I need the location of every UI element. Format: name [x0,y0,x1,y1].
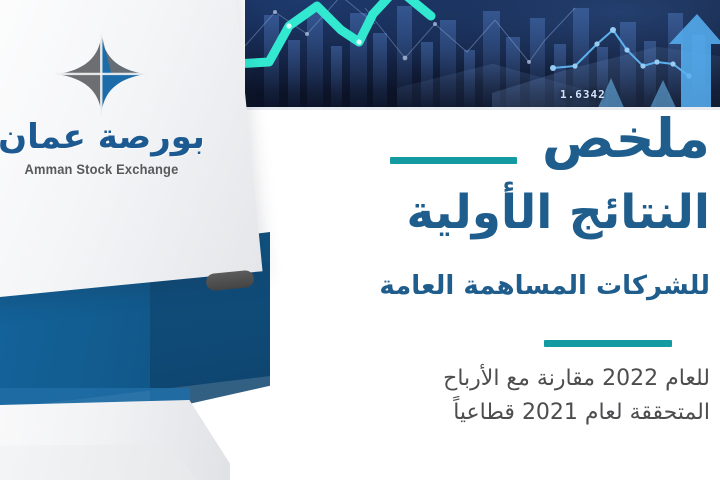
teal-divider-bottom [544,340,672,347]
ribbon-white-secondary [0,444,198,480]
ase-logo-english-name: Amman Stock Exchange [0,162,234,176]
banner-value-label: 1.6342 [560,88,606,101]
stock-chart-banner: 1.6342 [245,0,720,110]
ase-logo: بورصة عمان Amman Stock Exchange [0,32,245,176]
poster-canvas: 1.6342 [0,0,720,480]
body-paragraph: للعام 2022 مقارنة مع الأرباح المتحققة لع… [310,362,710,430]
four-point-star-compass-icon [55,32,147,116]
logo-card: بورصة عمان Amman Stock Exchange [0,0,263,299]
banner-line-graphics [245,0,720,110]
headline-line-2: النتائج الأولية [280,188,710,237]
teal-divider-top [390,157,517,164]
logo-card-surface: بورصة عمان Amman Stock Exchange [0,0,263,299]
headline-subtitle: للشركات المساهمة العامة [280,272,710,301]
body-line-1: للعام 2022 مقارنة مع الأرباح [310,362,710,396]
body-line-2: المتحققة لعام 2021 قطاعياً [310,396,710,430]
ase-logo-arabic-name: بورصة عمان [0,120,245,154]
